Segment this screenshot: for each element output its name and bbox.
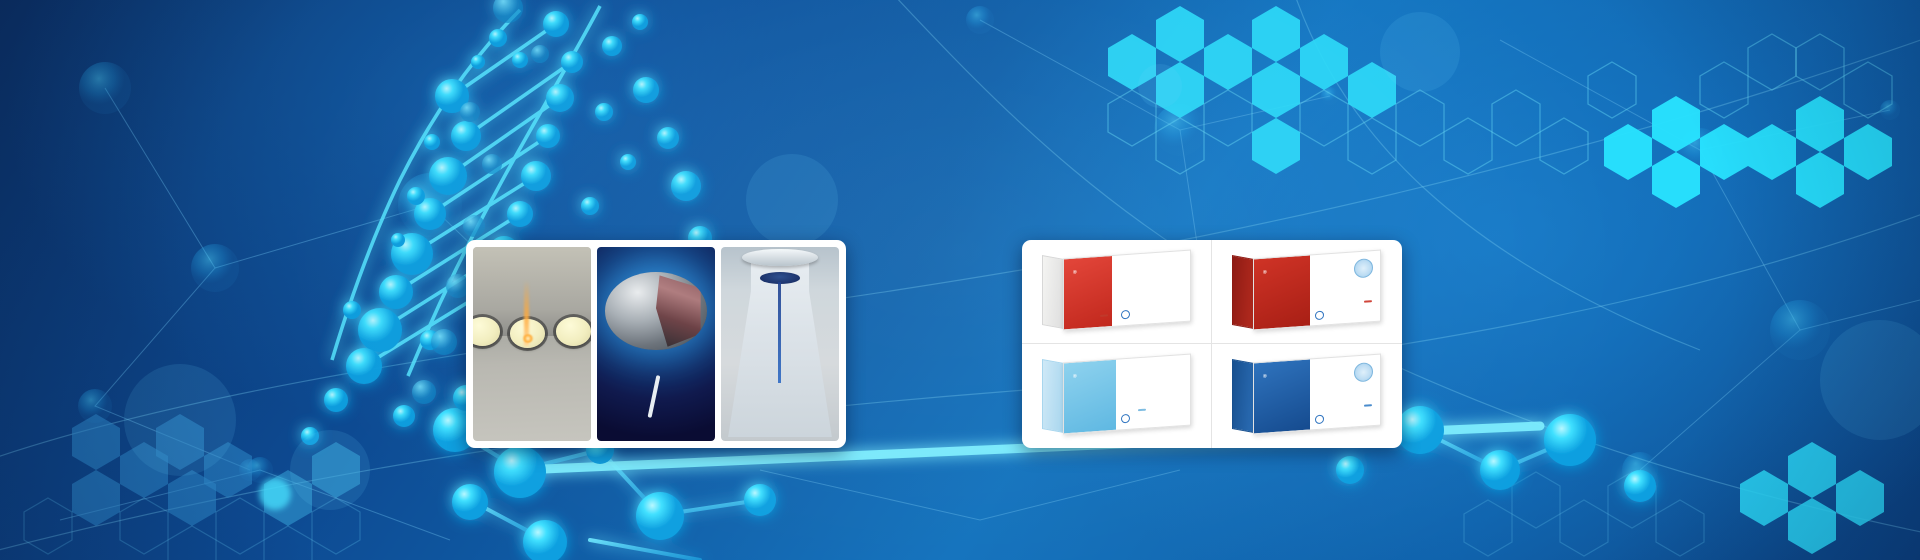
product-count (1364, 404, 1372, 407)
box-side (1232, 359, 1254, 433)
product-count (1364, 300, 1372, 303)
medicine-box: ® (1042, 254, 1192, 330)
product-panel: ® ® (1022, 240, 1402, 448)
banner-root: ® ® (0, 0, 1920, 560)
box-face: ® (1063, 249, 1191, 330)
medicine-box: ® (1232, 254, 1382, 330)
otc-seal-icon (1354, 258, 1373, 278)
box-face: ® (1253, 354, 1381, 435)
company-logo-icon (1121, 414, 1130, 424)
brand-logo: ® (1263, 269, 1268, 279)
dye-stream (778, 282, 781, 383)
box-face: ® (1253, 249, 1381, 330)
company-logo-icon (1315, 415, 1324, 425)
tablet-sphere (605, 272, 706, 350)
photo-tablet-cross-section-release (597, 247, 715, 441)
box-side (1232, 255, 1254, 329)
company-logo-icon (1315, 310, 1324, 320)
box-color-block (1254, 359, 1310, 433)
brand-logo: ® (1073, 269, 1078, 279)
drug-core-wedge (656, 275, 701, 346)
box-side (1042, 255, 1064, 329)
product-count (1138, 409, 1146, 412)
photo-flask-dye-release (721, 247, 839, 441)
product-desc (1118, 288, 1186, 293)
brand-logo: ® (1073, 373, 1078, 383)
product-cell-trimetazidine[interactable]: ® (1212, 344, 1402, 448)
tablet (556, 317, 591, 346)
product-cell-doxazosin[interactable]: ® (1022, 344, 1212, 448)
vignette-overlay (0, 0, 1920, 560)
box-face: ® (1063, 354, 1191, 435)
product-desc-2 (1314, 301, 1366, 305)
brand-logo: ® (1263, 373, 1268, 383)
photo-laser-drilling-tablets (473, 247, 591, 441)
product-count (1100, 314, 1108, 317)
product-cell-felodipine[interactable]: ® (1022, 240, 1212, 344)
company-logo-icon (1121, 309, 1130, 319)
medicine-box: ® (1042, 358, 1192, 434)
product-desc (1314, 289, 1366, 293)
product-cell-nifedipine[interactable]: ® (1212, 240, 1402, 344)
box-color-block (1064, 256, 1112, 329)
box-color-block (1064, 360, 1116, 434)
product-desc (1314, 396, 1366, 400)
photo-strip (466, 240, 846, 448)
box-side (1042, 359, 1064, 433)
medicine-box: ® (1232, 358, 1382, 434)
otc-seal-icon (1354, 362, 1373, 382)
release-orifice (648, 375, 661, 418)
box-color-block (1254, 255, 1310, 329)
